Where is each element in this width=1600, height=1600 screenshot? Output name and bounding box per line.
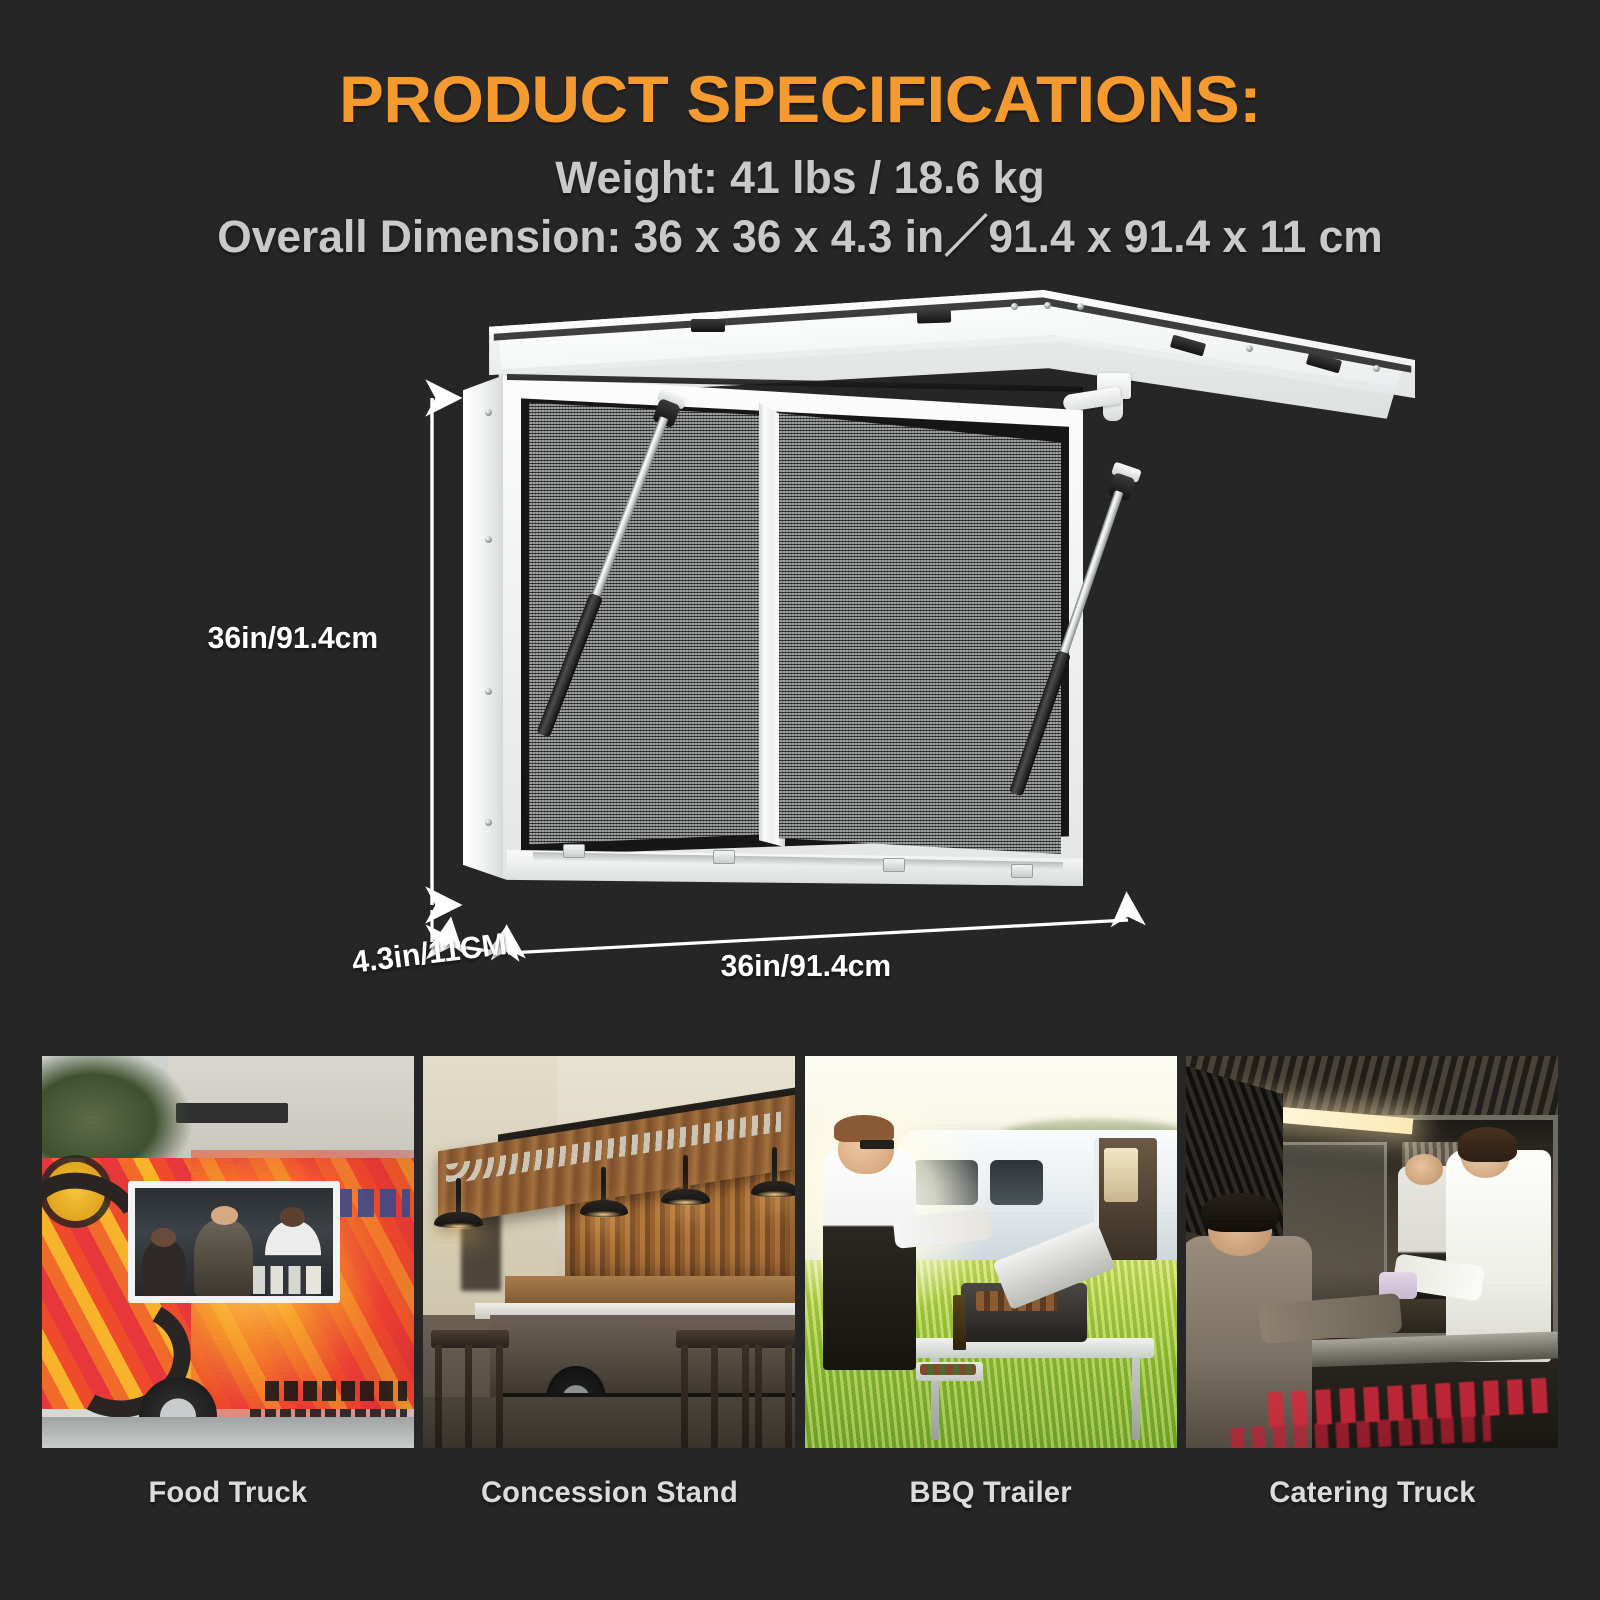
concession-stand-photo (423, 1056, 795, 1448)
stool-leg (465, 1345, 472, 1448)
awning-screw (1077, 303, 1084, 310)
pendant-lamp (434, 1197, 482, 1228)
stool-leg (711, 1345, 718, 1448)
bar-stool (751, 1330, 796, 1448)
gallery-item-concession-stand[interactable]: Concession Stand (423, 1056, 795, 1600)
building-sign (176, 1103, 288, 1123)
pendant-lamp (751, 1166, 796, 1197)
jamb-screw (485, 688, 492, 695)
lamp-glow (440, 1223, 477, 1230)
depth-dimension-label: 4.3in/11CM (350, 926, 509, 981)
sunglasses-icon (860, 1140, 893, 1149)
stool-leg (435, 1345, 442, 1448)
awning-screw (1011, 303, 1018, 310)
bar-stool (431, 1330, 509, 1448)
sill-clip (563, 844, 585, 858)
caravan-window (990, 1160, 1044, 1205)
wine-bottle (953, 1295, 966, 1350)
gallery-caption-bbq-trailer: BBQ Trailer (910, 1476, 1072, 1510)
caravan-door-window (1104, 1148, 1138, 1202)
table-leg (1132, 1358, 1140, 1440)
gallery-item-catering-truck[interactable]: Catering Truck (1186, 1056, 1558, 1600)
awning-screw (1044, 302, 1051, 309)
head (151, 1228, 176, 1247)
gallery-caption-concession-stand: Concession Stand (481, 1476, 738, 1510)
gallery-item-food-truck[interactable]: Food Truck (42, 1056, 414, 1600)
pendant-lamp (661, 1174, 709, 1205)
food-truck-photo (42, 1056, 414, 1448)
head (211, 1206, 238, 1225)
jamb-screw (485, 819, 492, 826)
lamp-arm (772, 1147, 777, 1185)
jamb-screw (485, 409, 492, 416)
gallery-caption-food-truck: Food Truck (149, 1476, 308, 1510)
overall-dimension-spec-text: Overall Dimension: 36 x 36 x 4.3 in／91.4… (12, 213, 1588, 262)
lamp-arm (601, 1167, 606, 1205)
catering-truck-photo (1186, 1056, 1558, 1448)
bbq-trailer-photo (805, 1056, 1177, 1448)
cook-hair (834, 1115, 894, 1142)
lamp-glow (756, 1191, 793, 1198)
awning-hinge-block (691, 319, 725, 332)
product-specification-infographic: PRODUCT SPECIFICATIONS: Weight: 41 lbs /… (0, 0, 1600, 1600)
gallery-item-bbq-trailer[interactable]: BBQ Trailer (805, 1056, 1177, 1600)
weight-spec-text: Weight: 41 lbs / 18.6 kg (8, 154, 1592, 203)
gallery-caption-catering-truck: Catering Truck (1269, 1476, 1475, 1510)
left-jamb (463, 374, 507, 880)
stool-leg (742, 1345, 749, 1448)
awning-hinge-block (917, 309, 951, 323)
staff-silhouette (194, 1219, 253, 1296)
sill-clip (713, 850, 735, 864)
lamp-arm (683, 1155, 688, 1193)
plated-food (920, 1364, 976, 1376)
pavement (42, 1417, 414, 1448)
window-frame (463, 366, 1083, 886)
stool-leg (785, 1345, 792, 1448)
condiment-bottles (253, 1266, 320, 1294)
width-dimension-label: 36in/91.4cm (721, 948, 892, 984)
customer-silhouette (142, 1240, 186, 1296)
awning-screw (1373, 365, 1380, 372)
cook-body (823, 1150, 916, 1370)
bar-stool (676, 1330, 754, 1448)
jamb-screw (485, 536, 492, 543)
chef-hair (1458, 1127, 1518, 1162)
chef-body (1446, 1150, 1550, 1362)
truck-serving-window (128, 1181, 340, 1303)
product-stage: 36in/91.4cm 36in/91.4cm 4.3in/11CM (0, 280, 1600, 1050)
head (280, 1207, 306, 1227)
concession-window-product (455, 290, 1415, 890)
stool-leg (755, 1345, 762, 1448)
stool-leg (496, 1345, 503, 1448)
lamp-arm (456, 1178, 461, 1216)
pendant-lamp (580, 1185, 628, 1216)
truck-phone-number (265, 1381, 406, 1401)
lamp-glow (667, 1199, 704, 1206)
cook-head (1405, 1154, 1442, 1185)
height-dimension-label: 36in/91.4cm (208, 620, 379, 656)
sill-clip (883, 858, 905, 872)
stool-leg (681, 1345, 688, 1448)
page-title: PRODUCT SPECIFICATIONS: (0, 66, 1600, 132)
application-gallery: Food Truck (0, 1056, 1600, 1600)
awning-screw (1246, 345, 1253, 352)
customer-hair (1201, 1193, 1279, 1232)
sill-clip (1011, 864, 1033, 878)
lamp-glow (585, 1211, 622, 1218)
header-block: PRODUCT SPECIFICATIONS: Weight: 41 lbs /… (0, 0, 1600, 280)
